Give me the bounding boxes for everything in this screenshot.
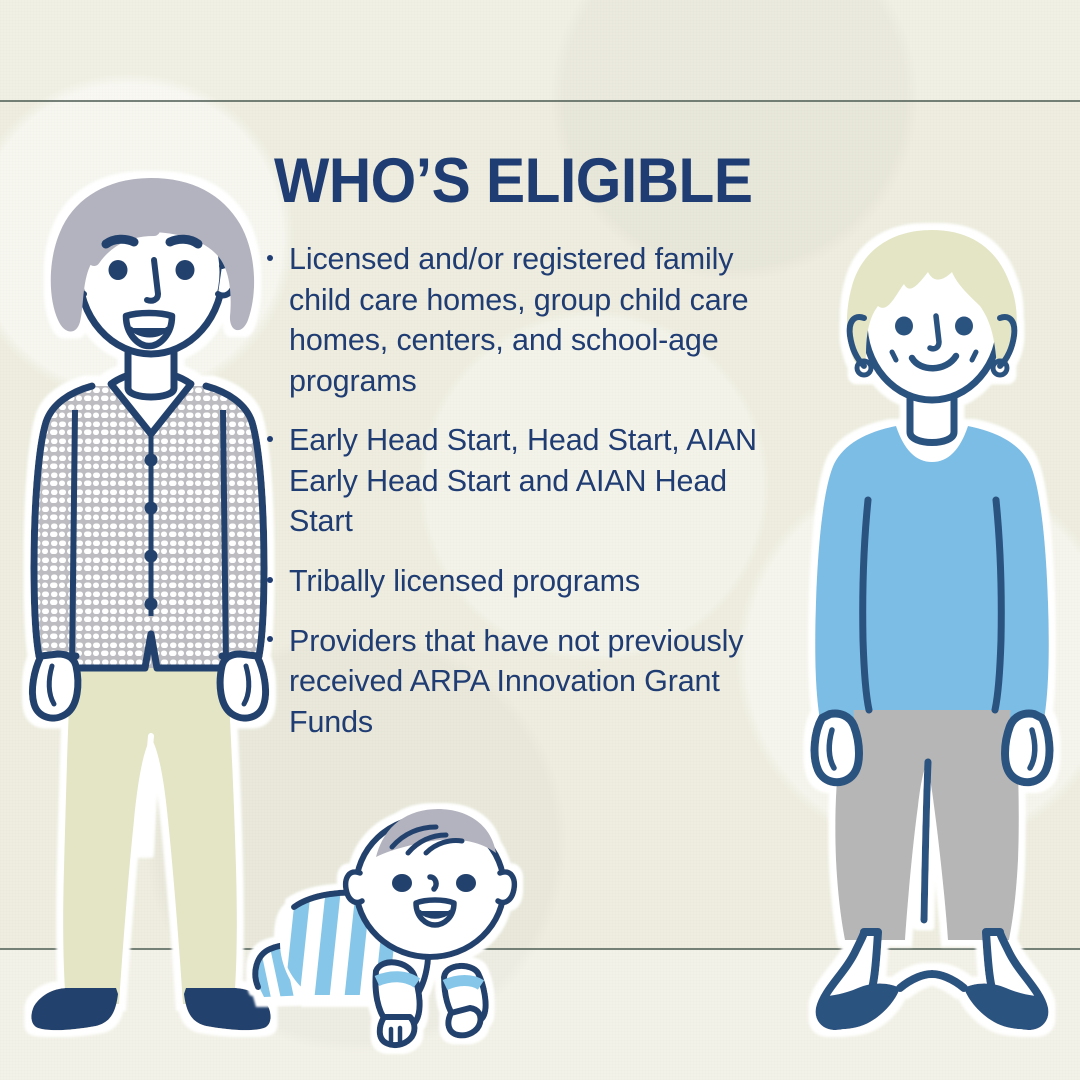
list-item: Providers that have not previously recei… [265,621,785,743]
list-item-label: Licensed and/or registered family child … [289,242,748,398]
list-item: Early Head Start, Head Start, AIAN Early… [265,420,785,542]
list-item: Licensed and/or registered family child … [265,239,785,401]
woman-hand-right [1005,714,1049,783]
man-shirt-button [145,550,158,563]
poster-canvas: WHO’S ELIGIBLE Licensed and/or registere… [0,0,1080,1080]
man-shirt-button [145,502,158,515]
woman-pants-seam [924,762,928,920]
list-item-label: Providers that have not previously recei… [289,624,743,739]
baby-figure-group [247,809,515,1045]
page-title: WHO’S ELIGIBLE [274,150,749,213]
man-eye-right [176,260,195,280]
man-figure-group [31,178,270,1030]
background-band-top [0,0,1080,100]
man-eyebrow-right [170,239,198,244]
baby-eye-right [456,874,476,892]
list-item-label: Tribally licensed programs [289,564,640,598]
man-shirt-button [145,454,158,467]
baby-ear-left [346,872,362,903]
woman-figure-group [815,230,1050,1029]
baby-ear-right [498,872,514,903]
man-shirt [34,372,264,668]
woman-sweater [815,426,1049,720]
man-eye-left [109,260,128,280]
baby-hand-back [448,1008,480,1035]
eligibility-list: Licensed and/or registered family child … [265,239,785,742]
baby-eye-left [392,874,412,892]
man-hand-right [220,654,265,718]
woman-eye-right [955,317,973,336]
man-pants [63,653,237,1004]
list-item-label: Early Head Start, Head Start, AIAN Early… [289,423,757,538]
man-eyebrow-left [106,239,134,244]
illustration-woman [800,210,1065,1040]
man-shirt-button [145,598,158,611]
man-hand-left [32,654,77,718]
woman-hand-left [815,714,859,783]
divider-line-top [0,100,1080,102]
bullet-dot-icon [267,577,273,583]
woman-eye-left [895,317,913,336]
bullet-dot-icon [267,436,273,442]
illustration-baby [248,795,538,1050]
baby-hand-front [380,1017,415,1045]
man-shoe-left [31,988,118,1030]
text-column: WHO’S ELIGIBLE Licensed and/or registere… [265,150,785,742]
list-item: Tribally licensed programs [265,561,785,602]
bullet-dot-icon [267,636,273,642]
man-pants-center-seam [144,736,151,848]
bullet-dot-icon [267,255,273,261]
